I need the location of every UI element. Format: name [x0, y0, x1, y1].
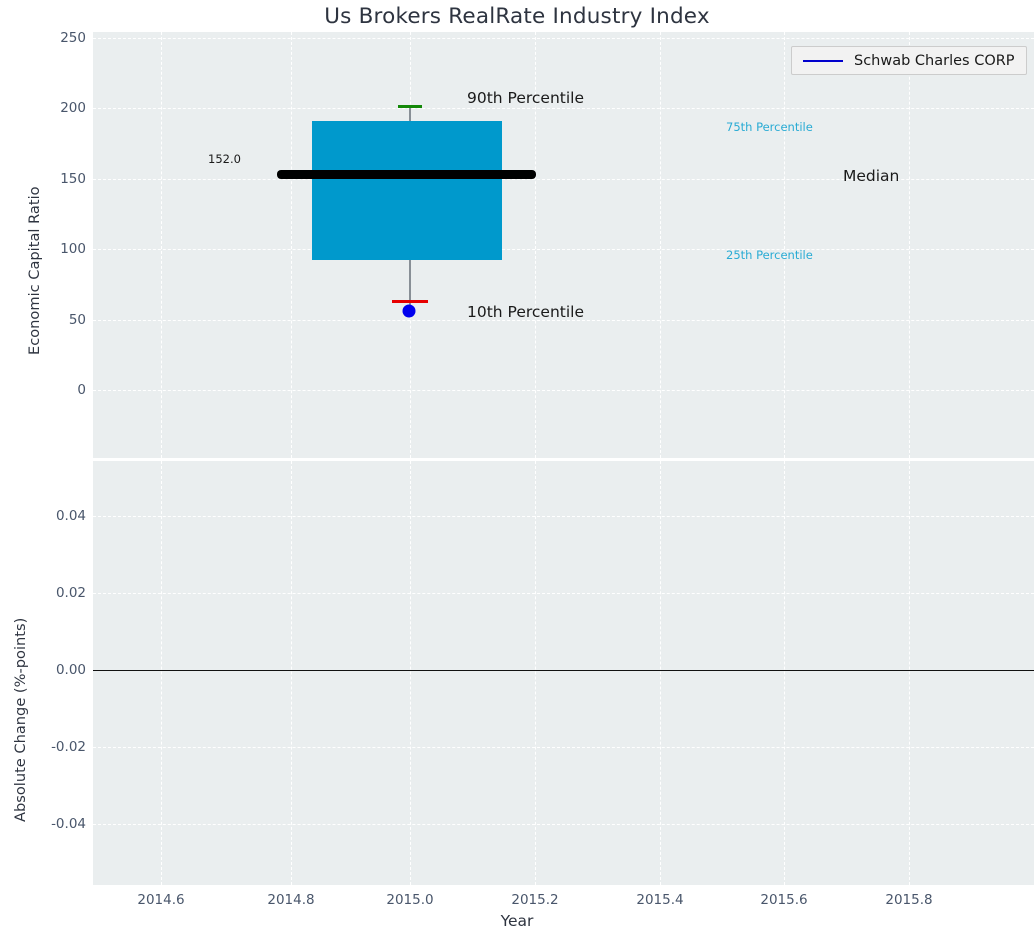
- gridline-x-2015.0-b: [410, 461, 411, 885]
- xtick-2015.2: 2015.2: [511, 892, 558, 908]
- gridline-x-2015.8: [909, 32, 910, 458]
- gridline-y--0.04: [93, 824, 1034, 825]
- zero-reference-line: [93, 670, 1034, 671]
- gridline-x-2015.4: [660, 32, 661, 458]
- gridline-x-2015.6: [784, 32, 785, 458]
- annotation-median: Median: [843, 167, 899, 185]
- median-line: [277, 170, 536, 179]
- annotation-p90: 90th Percentile: [467, 89, 584, 107]
- chart-legend[interactable]: Schwab Charles CORP: [791, 46, 1027, 75]
- annotation-p75: 75th Percentile: [726, 120, 813, 134]
- gridline-x-2015.6-b: [784, 461, 785, 885]
- gridline-y-250: [93, 38, 1034, 39]
- ytick-50: 50: [40, 312, 86, 328]
- ytick-250: 250: [40, 30, 86, 46]
- x-axis-label: Year: [0, 912, 1034, 930]
- ytick-100: 100: [40, 241, 86, 257]
- bottom-plot-area: [93, 461, 1034, 885]
- y-axis-label-bottom: Absolute Change (%-points): [12, 618, 29, 822]
- gridline-x-2015.8-b: [909, 461, 910, 885]
- y-axis-label-top: Economic Capital Ratio: [26, 186, 43, 355]
- annotation-p25: 25th Percentile: [726, 248, 813, 262]
- gridline-y-200: [93, 108, 1034, 109]
- gridline-y-0.02: [93, 593, 1034, 594]
- gridline-y-0: [93, 390, 1034, 391]
- box-interquartile-range: [312, 121, 502, 260]
- chart-title: Us Brokers RealRate Industry Index: [0, 4, 1034, 29]
- ytick-0.02: 0.02: [40, 585, 86, 601]
- gridline-x-2014.6-b: [161, 461, 162, 885]
- xtick-2015.6: 2015.6: [760, 892, 807, 908]
- ytick-0.00: 0.00: [40, 662, 86, 678]
- chart-figure: Us Brokers RealRate Industry Index 152.0…: [0, 0, 1034, 942]
- gridline-y--0.02: [93, 747, 1034, 748]
- median-value-label: 152.0: [208, 152, 241, 166]
- xtick-2015.8: 2015.8: [885, 892, 932, 908]
- ytick--0.04: -0.04: [40, 816, 86, 832]
- ytick-150: 150: [40, 171, 86, 187]
- xtick-2014.8: 2014.8: [267, 892, 314, 908]
- ytick-0.04: 0.04: [40, 508, 86, 524]
- xtick-2015.4: 2015.4: [636, 892, 683, 908]
- whisker-cap-p90: [398, 105, 422, 108]
- gridline-y-100: [93, 249, 1034, 250]
- annotation-p10: 10th Percentile: [467, 303, 584, 321]
- gridline-y-0.04: [93, 516, 1034, 517]
- gridline-x-2015.2-b: [535, 461, 536, 885]
- gridline-x-2014.8: [291, 32, 292, 458]
- whisker-cap-p10: [392, 300, 428, 303]
- legend-label: Schwab Charles CORP: [854, 53, 1015, 69]
- xtick-2015.0: 2015.0: [386, 892, 433, 908]
- ytick-0: 0: [40, 382, 86, 398]
- xtick-2014.6: 2014.6: [137, 892, 184, 908]
- ytick-200: 200: [40, 100, 86, 116]
- company-value-marker: [403, 305, 416, 318]
- legend-line-swatch: [803, 60, 843, 62]
- ytick--0.02: -0.02: [40, 739, 86, 755]
- gridline-x-2015.4-b: [660, 461, 661, 885]
- gridline-x-2014.8-b: [291, 461, 292, 885]
- gridline-x-2014.6: [161, 32, 162, 458]
